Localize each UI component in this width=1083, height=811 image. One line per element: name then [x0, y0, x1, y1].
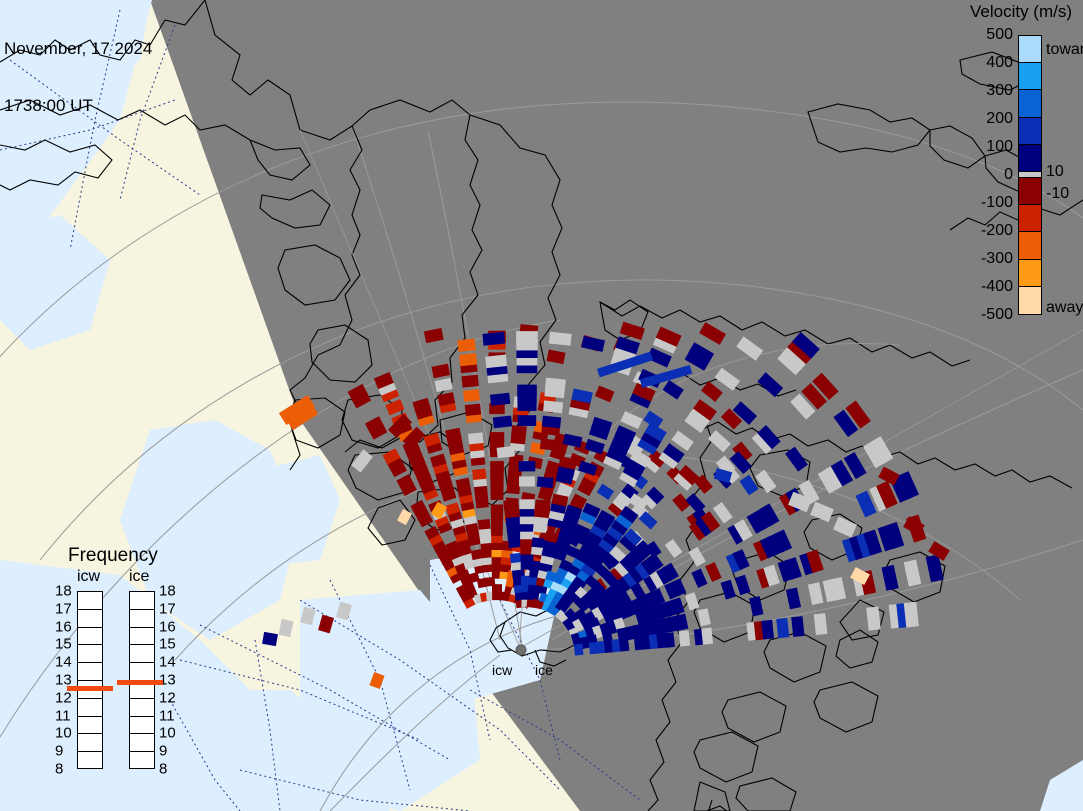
- frequency-tick-right: 10: [159, 725, 176, 742]
- frequency-cell: [78, 645, 102, 663]
- range-gate-cell: [619, 638, 629, 652]
- colorbar-segment: [1019, 145, 1041, 172]
- range-gate-cell: [549, 332, 572, 346]
- colorbar-tick: -400: [981, 278, 1013, 296]
- colorbar-segment: [1019, 36, 1041, 63]
- colorbar-tick: 0: [1004, 166, 1013, 184]
- colorbar-tick: 400: [986, 54, 1013, 72]
- range-gate-cell: [543, 400, 563, 413]
- range-gate-cell: [459, 353, 477, 366]
- colorbar-segment: [1019, 63, 1041, 90]
- frequency-tick-left: 10: [55, 725, 72, 742]
- colorbar-segment: [1019, 205, 1041, 232]
- frequency-cell: [130, 628, 154, 646]
- range-gate-cell: [468, 432, 483, 444]
- colorbar-tick: -300: [981, 250, 1013, 268]
- colorbar-segment: [1019, 260, 1041, 287]
- frequency-cell: [78, 752, 102, 770]
- range-gate-cell: [540, 438, 559, 450]
- date-text: November, 17 2024: [4, 39, 152, 58]
- range-gate-cell: [478, 519, 491, 530]
- range-gate-cell: [520, 499, 535, 509]
- colorbar-gradient: [1018, 35, 1042, 315]
- frequency-cell: [130, 645, 154, 663]
- frequency-tick-right: 18: [159, 583, 176, 600]
- colorbar-tick: 500: [986, 26, 1013, 44]
- range-gate-cell: [517, 385, 537, 396]
- colorbar-segment: [1019, 232, 1041, 259]
- frequency-tick-right: 17: [159, 600, 176, 617]
- frequency-bar-icw: [77, 591, 103, 769]
- frequency-tick-right: 11: [159, 707, 175, 724]
- colorbar-tick: -500: [981, 306, 1013, 324]
- frequency-cell: [130, 717, 154, 735]
- range-gate-cell: [866, 607, 881, 631]
- range-gate-cell: [472, 469, 486, 480]
- range-gate-cell: [542, 416, 561, 429]
- range-gate-cell: [482, 332, 505, 346]
- frequency-cell: [78, 717, 102, 735]
- range-gate-cell: [262, 632, 278, 646]
- frequency-cell: [130, 752, 154, 770]
- range-gate-cell: [465, 404, 481, 416]
- frequency-tick-left: 12: [55, 689, 72, 706]
- range-gate-cell: [679, 630, 690, 646]
- range-gate-cell: [490, 432, 505, 443]
- frequency-cell: [78, 663, 102, 681]
- range-gate-cell: [485, 355, 507, 369]
- frequency-tick-right: 15: [159, 636, 176, 653]
- frequency-column-label-icw: icw: [77, 568, 100, 586]
- range-gate-cell: [516, 331, 538, 343]
- range-gate-cell: [545, 377, 566, 390]
- colorbar-tick: 200: [986, 110, 1013, 128]
- frequency-legend-title: Frequency: [68, 545, 158, 567]
- frequency-tick-left: 8: [55, 761, 63, 778]
- frequency-tick-right: 16: [159, 618, 176, 635]
- frequency-cell: [130, 592, 154, 610]
- frequency-column-label-ice: ice: [129, 568, 149, 586]
- range-gate-cell: [535, 499, 551, 510]
- range-gate-cell: [519, 476, 535, 486]
- frequency-tick-right: 9: [159, 743, 167, 760]
- range-gate-cell: [461, 375, 478, 388]
- site-label-ice: ice: [535, 662, 553, 678]
- timestamp-block: November, 17 2024 1738:00 UT: [4, 1, 152, 153]
- colorbar-tick: 100: [986, 138, 1013, 156]
- range-gate-cell: [490, 393, 510, 406]
- frequency-marker: [67, 686, 113, 691]
- colorbar-away-label: away: [1046, 299, 1083, 317]
- range-gate-cell: [814, 613, 828, 635]
- range-gate-cell: [664, 632, 675, 648]
- frequency-cell: [130, 663, 154, 681]
- colorbar-tick: 300: [986, 82, 1013, 100]
- frequency-tick-left: 9: [55, 743, 63, 760]
- velocity-colorbar: Velocity (m/s) 5004003002001000-100-200-…: [960, 0, 1083, 330]
- range-gate-cell: [574, 644, 584, 656]
- colorbar-tick: -200: [981, 222, 1013, 240]
- range-gate-cell: [776, 618, 789, 638]
- frequency-cell: [130, 610, 154, 628]
- frequency-cell: [130, 734, 154, 752]
- range-gate-cell: [791, 616, 804, 637]
- frequency-cell: [130, 699, 154, 717]
- frequency-cell: [78, 610, 102, 628]
- frequency-cell: [78, 699, 102, 717]
- frequency-tick-left: 15: [55, 636, 72, 653]
- range-gate-cell: [511, 425, 527, 437]
- colorbar-segment: [1019, 118, 1041, 145]
- colorbar-tick: -100: [981, 194, 1013, 212]
- range-gate-cell: [493, 416, 512, 429]
- range-gate-cell: [491, 505, 503, 515]
- frequency-tick-right: 12: [159, 689, 176, 706]
- frequency-cell: [78, 628, 102, 646]
- range-gate-cell: [537, 477, 554, 489]
- fan-plot-canvas: November, 17 2024 1738:00 UT Velocity (m…: [0, 0, 1083, 811]
- colorbar-segment: [1019, 178, 1041, 205]
- frequency-legend: Frequency icw ice 1818171716161515141413…: [55, 545, 195, 780]
- frequency-tick-left: 16: [55, 618, 72, 635]
- colorbar-segment: [1019, 90, 1041, 117]
- colorbar-toward-label: toward: [1046, 41, 1083, 59]
- radar-origin-marker: [516, 645, 526, 655]
- range-gate-cell: [761, 620, 774, 640]
- time-text: 1738:00 UT: [4, 96, 152, 115]
- range-gate-cell: [518, 415, 536, 426]
- frequency-cell: [78, 734, 102, 752]
- range-gate-cell: [463, 389, 480, 402]
- frequency-tick-right: 14: [159, 654, 176, 671]
- range-gate-cell: [503, 499, 519, 510]
- frequency-tick-left: 17: [55, 600, 72, 617]
- frequency-tick-left: 18: [55, 583, 72, 600]
- range-gate-cell: [904, 602, 919, 628]
- frequency-tick-left: 14: [55, 654, 72, 671]
- frequency-tick-right: 8: [159, 761, 167, 778]
- range-gate-cell: [490, 461, 504, 471]
- colorbar-title: Velocity (m/s): [970, 2, 1072, 22]
- range-gate-cell: [519, 461, 536, 471]
- frequency-tick-left: 11: [55, 707, 71, 724]
- colorbar-minus10-label: -10: [1046, 185, 1069, 203]
- colorbar-plus10-label: 10: [1046, 163, 1064, 181]
- range-gate-cell: [497, 446, 515, 458]
- site-label-icw: icw: [492, 662, 512, 678]
- colorbar-segment: [1019, 287, 1041, 314]
- range-gate-cell: [457, 339, 475, 352]
- frequency-marker: [117, 680, 163, 685]
- frequency-cell: [78, 592, 102, 610]
- range-gate-cell: [701, 628, 713, 645]
